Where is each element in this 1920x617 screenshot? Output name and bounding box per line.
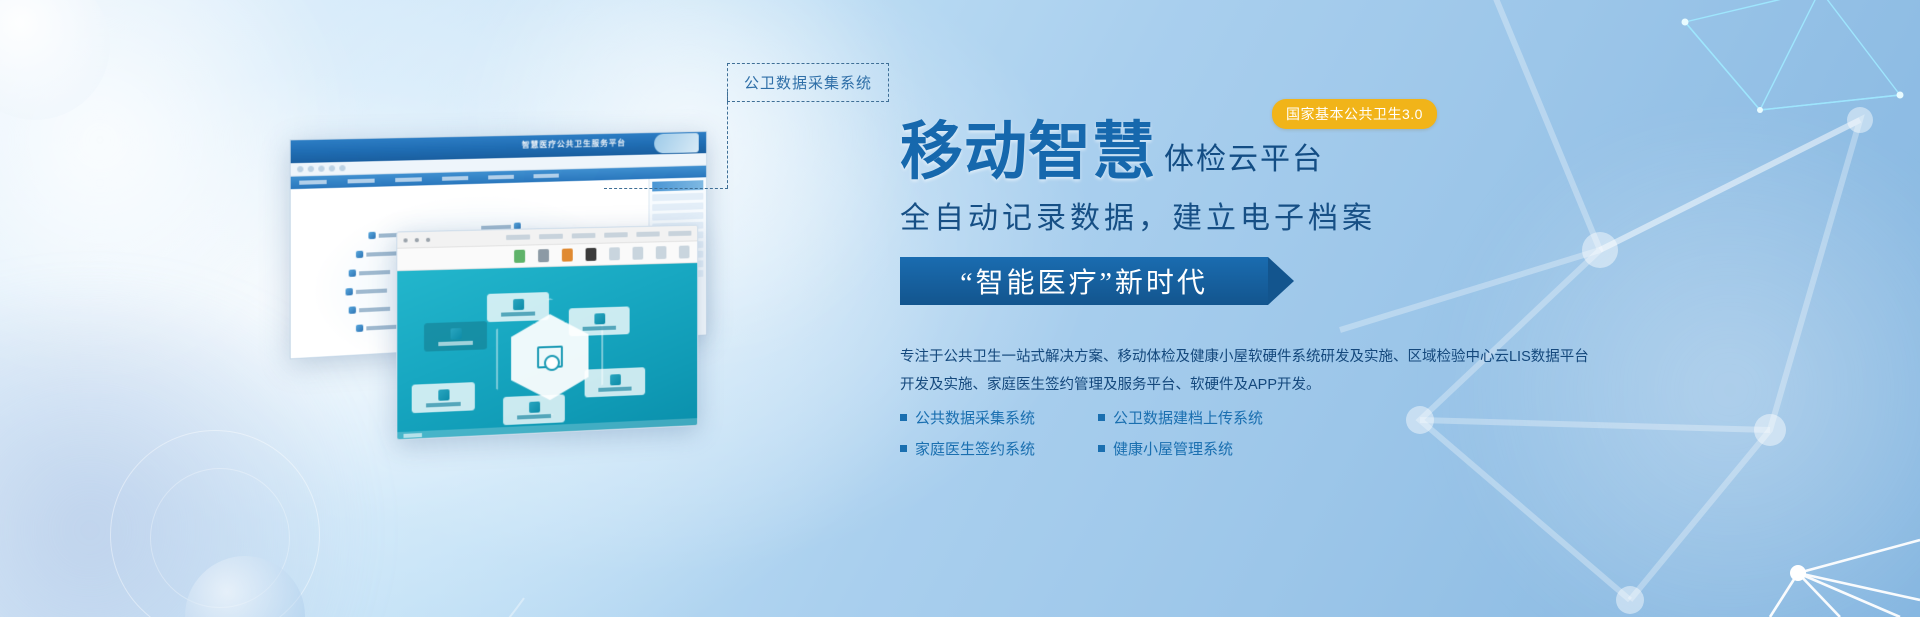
node-icon [346, 288, 353, 296]
callout-leader-vertical [727, 92, 728, 188]
nav-menu-item[interactable] [488, 175, 514, 180]
bullet-square-icon [1098, 414, 1105, 421]
window-dot-icon[interactable] [403, 238, 407, 242]
kiosk-card[interactable] [585, 367, 646, 397]
sidebar-row[interactable] [652, 193, 703, 201]
ribbon-tool-icon[interactable] [609, 247, 620, 260]
ribbon-tool-icon[interactable] [514, 250, 525, 263]
list-item[interactable]: 家庭医生签约系统 [900, 438, 1080, 459]
node-label-bar [359, 269, 390, 274]
ribbon-tool-icon[interactable] [538, 249, 549, 262]
diagram-node [346, 286, 387, 295]
list-item[interactable]: 健康小屋管理系统 [1098, 438, 1620, 459]
ribbon-arrow-icon [1268, 257, 1294, 305]
ribbon-body: “智能医疗”新时代 [900, 257, 1268, 305]
node-label-bar [366, 324, 397, 330]
toolbar-dot-icon [339, 165, 345, 171]
callout-leader-horizontal [604, 188, 728, 189]
node-label-bar [356, 288, 387, 294]
list-item[interactable]: 公共数据采集系统 [900, 407, 1080, 428]
card-label-bar [438, 340, 473, 345]
window-dot-icon[interactable] [426, 237, 430, 241]
page-title: 移动智慧 [900, 120, 1156, 183]
kiosk-card[interactable] [569, 306, 630, 336]
toolbar-dot-icon [329, 165, 335, 171]
nav-menu-item[interactable] [299, 180, 326, 185]
headline-row: 移动智慧 体检云平台 国家基本公共卫生3.0 [900, 120, 1620, 183]
list-item-label: 公共数据采集系统 [915, 407, 1035, 428]
sidebar-row[interactable] [652, 202, 703, 211]
diagram-node [349, 268, 390, 277]
status-badge: 国家基本公共卫生3.0 [1272, 99, 1437, 129]
hero-banner: 智慧医疗公共卫生服务平台 [0, 0, 1920, 617]
toolbar-dot-icon [297, 166, 303, 172]
nav-menu-item[interactable] [395, 177, 422, 182]
tab-strip[interactable] [506, 231, 691, 240]
tab-item[interactable] [506, 234, 530, 240]
tab-item[interactable] [636, 231, 659, 236]
app-title: 智慧医疗公共卫生服务平台 [522, 137, 626, 150]
ribbon-banner: “智能医疗”新时代 [900, 257, 1294, 305]
card-label-bar [501, 311, 535, 316]
bullet-square-icon [1098, 445, 1105, 452]
node-icon [349, 306, 356, 314]
feature-list: 公共数据采集系统 公卫数据建档上传系统 家庭医生签约系统 健康小屋管理系统 [900, 407, 1620, 459]
headline-line2: 全自动记录数据，建立电子档案 [900, 193, 1620, 237]
ribbon-tool-icon[interactable] [562, 248, 573, 261]
nav-menu-item[interactable] [348, 179, 375, 184]
copy-block: 移动智慧 体检云平台 国家基本公共卫生3.0 全自动记录数据，建立电子档案 “智… [900, 120, 1620, 459]
diagram-node [356, 323, 397, 332]
doctor-avatar-icon [654, 133, 699, 153]
kiosk-card[interactable] [503, 394, 565, 425]
node-label-bar [359, 306, 390, 312]
bullet-square-icon [900, 414, 907, 421]
window-controls[interactable] [403, 237, 430, 242]
node-icon [356, 324, 363, 332]
card-label-bar [583, 325, 616, 330]
card-icon [594, 313, 605, 324]
toolbar-dot-icon [318, 166, 324, 172]
page-subtitle: 体检云平台 [1164, 134, 1324, 183]
card-icon [450, 328, 461, 340]
node-icon [356, 251, 363, 258]
card-label-bar [426, 401, 461, 407]
card-icon [513, 298, 524, 309]
toolbar-dot-icon [308, 166, 314, 172]
footer-bar-icon [403, 433, 421, 438]
ribbon-label: “智能医疗”新时代 [960, 261, 1208, 301]
card-icon [610, 374, 621, 385]
card-label-bar [598, 386, 631, 391]
node-label-bar [366, 251, 397, 256]
kiosk-screen [397, 263, 697, 440]
list-item-label: 家庭医生签约系统 [915, 438, 1035, 459]
callout-label: 公卫数据采集系统 [727, 63, 889, 102]
tab-item[interactable] [668, 231, 691, 236]
screenshot-self-service-kiosk[interactable] [396, 225, 698, 441]
tab-item[interactable] [572, 233, 596, 239]
node-icon [349, 269, 356, 277]
window-dot-icon[interactable] [415, 238, 419, 242]
kiosk-card[interactable] [412, 382, 475, 413]
list-item-label: 健康小屋管理系统 [1113, 438, 1233, 459]
nav-menu-item[interactable] [442, 176, 468, 181]
sidebar-row[interactable] [652, 212, 703, 221]
diagram-node [356, 249, 397, 258]
search-document-icon [537, 346, 563, 369]
ribbon-tool-icon[interactable] [633, 247, 644, 260]
description-text: 专注于公共卫生一站式解决方案、移动体检及健康小屋软硬件系统研发及实施、区域检验中… [900, 343, 1600, 399]
nav-menu-item[interactable] [534, 174, 559, 179]
card-label-bar [517, 413, 551, 419]
list-item-label: 公卫数据建档上传系统 [1113, 407, 1263, 428]
ribbon-tool-icon[interactable] [679, 245, 690, 258]
tab-item[interactable] [539, 234, 563, 240]
sidebar-header [652, 180, 703, 191]
ribbon-tool-icon[interactable] [656, 246, 667, 259]
kiosk-card[interactable] [487, 292, 549, 322]
list-item[interactable]: 公卫数据建档上传系统 [1098, 407, 1620, 428]
ribbon-tool-icon[interactable] [586, 248, 597, 261]
diagram-node [349, 305, 390, 314]
node-icon [368, 232, 375, 239]
bullet-square-icon [900, 445, 907, 452]
kiosk-card[interactable] [424, 321, 487, 352]
tab-item[interactable] [604, 232, 627, 238]
card-icon [438, 389, 449, 401]
card-icon [529, 401, 540, 413]
